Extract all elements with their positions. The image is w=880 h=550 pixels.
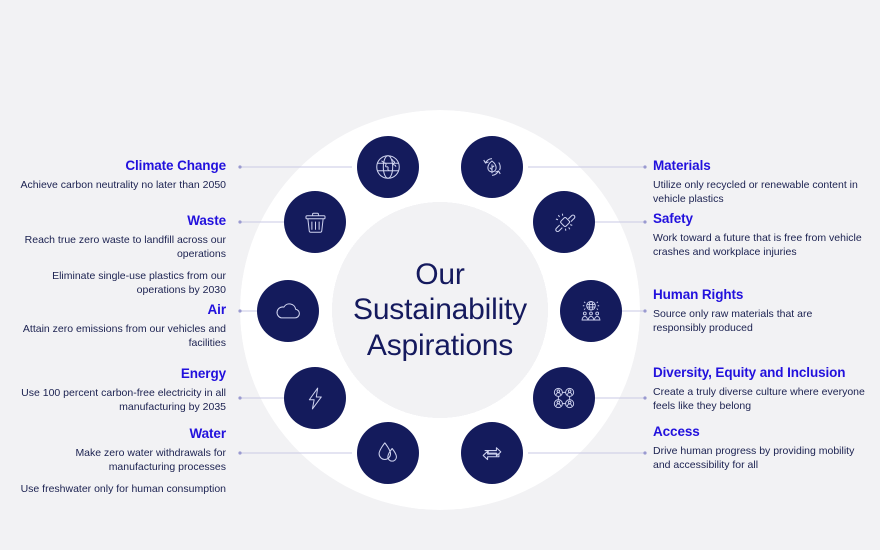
label-diversity-equity-inclusion: Diversity, Equity and Inclusion Create a… [653, 365, 868, 414]
label-heading: Access [653, 424, 868, 441]
label-materials: Materials Utilize only recycled or renew… [653, 158, 868, 207]
label-paragraph: Create a truly diverse culture where eve… [653, 385, 868, 414]
label-heading: Waste [11, 213, 226, 230]
label-paragraph: Utilize only recycled or renewable conte… [653, 178, 868, 207]
label-heading: Energy [11, 366, 226, 383]
label-paragraph: Attain zero emissions from our vehicles … [11, 322, 226, 351]
infographic-canvas: Climate Change Achieve carbon neutrality… [0, 0, 880, 550]
label-water: Water Make zero water withdrawals for ma… [11, 426, 226, 496]
label-access: Access Drive human progress by providing… [653, 424, 868, 473]
label-heading: Materials [653, 158, 868, 175]
label-heading: Diversity, Equity and Inclusion [653, 365, 868, 382]
label-air: Air Attain zero emissions from our vehic… [11, 302, 226, 351]
label-safety: Safety Work toward a future that is free… [653, 211, 868, 260]
label-human-rights: Human Rights Source only raw materials t… [653, 287, 868, 336]
label-paragraph: Work toward a future that is free from v… [653, 231, 868, 260]
label-paragraph: Source only raw materials that are respo… [653, 307, 868, 336]
label-heading: Climate Change [11, 158, 226, 175]
label-heading: Air [11, 302, 226, 319]
label-paragraph: Reach true zero waste to landfill across… [11, 233, 226, 262]
label-paragraph: Eliminate single-use plastics from our o… [11, 269, 226, 298]
label-paragraph: Achieve carbon neutrality no later than … [11, 178, 226, 192]
label-heading: Safety [653, 211, 868, 228]
label-climate-change: Climate Change Achieve carbon neutrality… [11, 158, 226, 192]
label-paragraph: Use freshwater only for human consumptio… [11, 482, 226, 496]
center-title: Our Sustainability Aspirations [240, 110, 640, 510]
label-heading: Human Rights [653, 287, 868, 304]
label-waste: Waste Reach true zero waste to landfill … [11, 213, 226, 298]
label-heading: Water [11, 426, 226, 443]
label-energy: Energy Use 100 percent carbon-free elect… [11, 366, 226, 415]
label-paragraph: Drive human progress by providing mobili… [653, 444, 868, 473]
label-paragraph: Use 100 percent carbon-free electricity … [11, 386, 226, 415]
label-paragraph: Make zero water withdrawals for manufact… [11, 446, 226, 475]
